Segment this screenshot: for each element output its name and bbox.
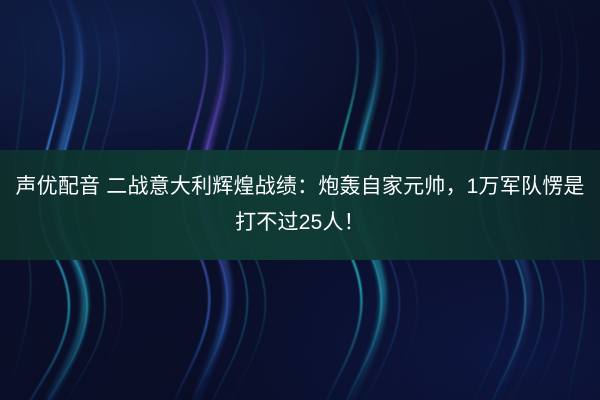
banner-title: 声优配音 二战意大利辉煌战绩：炮轰自家元帅，1万军队愣是打不过25人！ bbox=[0, 150, 600, 260]
banner-image: 声优配音 二战意大利辉煌战绩：炮轰自家元帅，1万军队愣是打不过25人！ bbox=[0, 0, 600, 400]
